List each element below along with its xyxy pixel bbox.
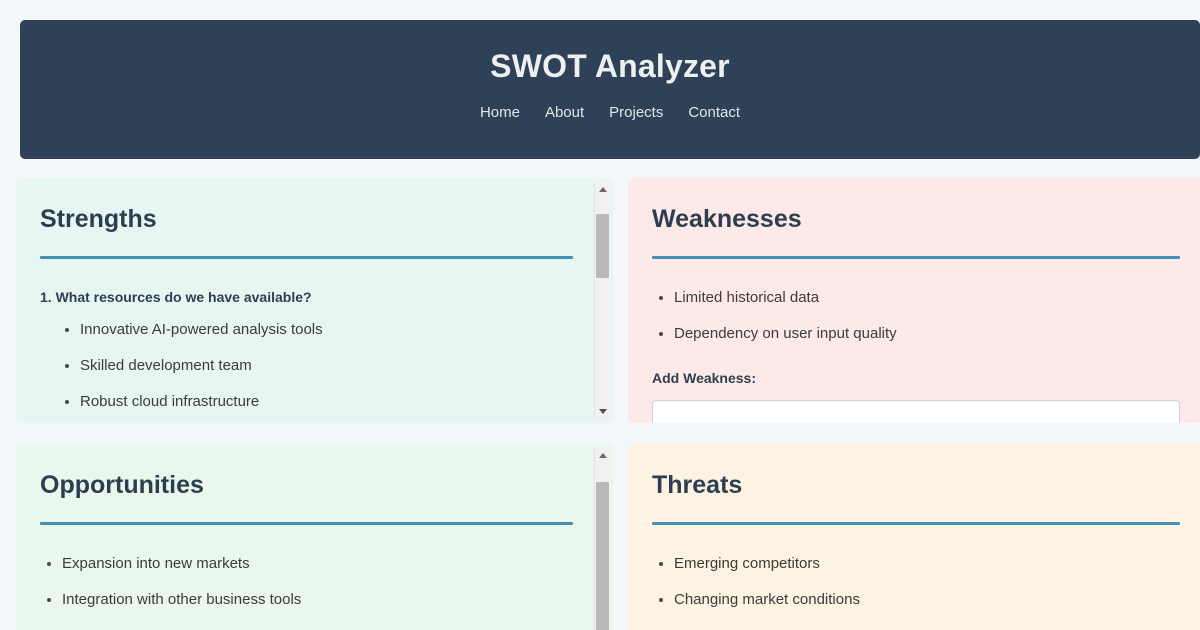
threats-list: Emerging competitors Changing market con…	[652, 553, 1180, 610]
weaknesses-body: Limited historical data Dependency on us…	[652, 287, 1180, 423]
opportunities-list: Expansion into new markets Integration w…	[40, 553, 573, 610]
main-navigation: Home About Projects Contact	[20, 103, 1200, 123]
app-page: SWOT Analyzer Home About Projects Contac…	[0, 0, 1200, 630]
scroll-up-arrow-icon[interactable]	[595, 448, 610, 463]
weaknesses-heading: Weaknesses	[652, 204, 1180, 234]
swot-grid: Strengths 1. What resources do we have a…	[16, 178, 1200, 630]
opportunities-heading: Opportunities	[40, 470, 573, 500]
quadrant-weaknesses: Weaknesses Limited historical data Depen…	[628, 178, 1200, 423]
nav-link-home[interactable]: Home	[480, 103, 520, 123]
list-item: Changing market conditions	[674, 589, 1180, 610]
quadrant-threats: Threats Emerging competitors Changing ma…	[628, 444, 1200, 630]
strengths-scrollbar[interactable]	[594, 182, 609, 419]
scroll-up-arrow-icon[interactable]	[595, 182, 610, 197]
nav-link-contact[interactable]: Contact	[688, 103, 740, 123]
nav-link-projects[interactable]: Projects	[609, 103, 663, 123]
threats-body: Emerging competitors Changing market con…	[652, 553, 1180, 610]
opportunities-scrollbar[interactable]	[594, 448, 609, 630]
strengths-list: Innovative AI-powered analysis tools Ski…	[40, 319, 573, 412]
scrollbar-thumb[interactable]	[596, 214, 609, 278]
list-item: Expansion into new markets	[62, 553, 573, 574]
scroll-down-arrow-icon[interactable]	[595, 404, 610, 419]
list-item: Skilled development team	[80, 355, 573, 376]
triangle-up-icon	[599, 453, 607, 458]
opportunities-divider	[40, 522, 573, 525]
strengths-body: 1. What resources do we have available? …	[40, 287, 573, 412]
add-weakness-label: Add Weakness:	[652, 368, 1180, 388]
nav-link-about[interactable]: About	[545, 103, 584, 123]
quadrant-opportunities: Opportunities Expansion into new markets…	[16, 444, 613, 630]
triangle-down-icon	[599, 409, 607, 414]
page-title: SWOT Analyzer	[20, 46, 1200, 86]
list-item: Innovative AI-powered analysis tools	[80, 319, 573, 340]
threats-heading: Threats	[652, 470, 1180, 500]
list-item: Limited historical data	[674, 287, 1180, 308]
list-item: Robust cloud infrastructure	[80, 391, 573, 412]
scrollbar-thumb[interactable]	[596, 482, 609, 630]
list-item: Dependency on user input quality	[674, 323, 1180, 344]
weaknesses-divider	[652, 256, 1180, 259]
threats-divider	[652, 522, 1180, 525]
quadrant-strengths: Strengths 1. What resources do we have a…	[16, 178, 613, 423]
weaknesses-list: Limited historical data Dependency on us…	[652, 287, 1180, 344]
strengths-divider	[40, 256, 573, 259]
list-item: Emerging competitors	[674, 553, 1180, 574]
add-weakness-input[interactable]	[652, 400, 1180, 423]
opportunities-body: Expansion into new markets Integration w…	[40, 553, 573, 610]
triangle-up-icon	[599, 187, 607, 192]
site-header: SWOT Analyzer Home About Projects Contac…	[20, 20, 1200, 159]
list-item: Integration with other business tools	[62, 589, 573, 610]
strengths-heading: Strengths	[40, 204, 573, 234]
strengths-question: 1. What resources do we have available?	[40, 287, 573, 307]
